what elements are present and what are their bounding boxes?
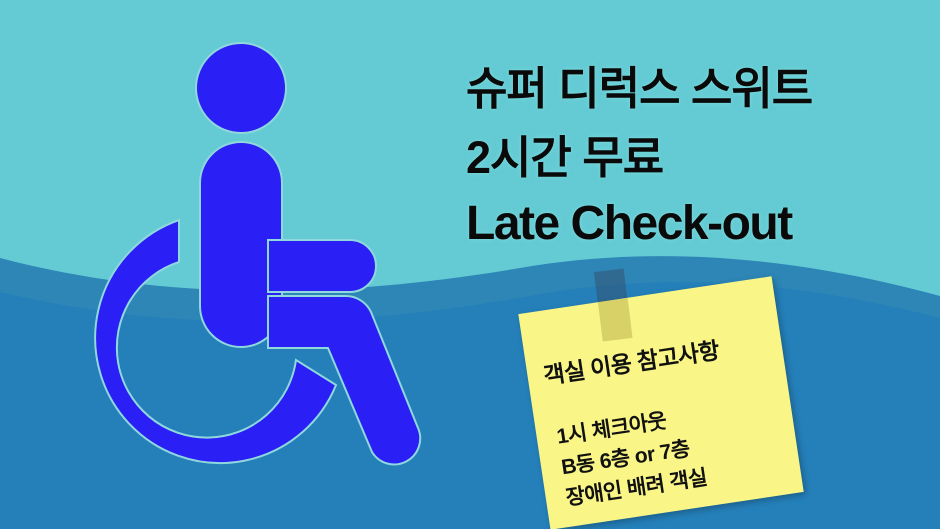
headline-block: 슈퍼 디럭스 스위트 2시간 무료 Late Check-out <box>466 54 918 256</box>
tape-icon-lower <box>598 298 633 341</box>
sticky-note-title: 객실 이용 참고사항 <box>541 331 721 391</box>
headline-line-1: 슈퍼 디럭스 스위트 <box>466 54 918 124</box>
sticky-note: 객실 이용 참고사항 1시 체크아웃 B동 6층 or 7층 장애인 배려 객실 <box>518 276 803 529</box>
headline-line-2: 2시간 무료 <box>466 124 918 192</box>
wheelchair-arm-shape <box>268 240 376 292</box>
sticky-note-paper: 객실 이용 참고사항 1시 체크아웃 B동 6층 or 7층 장애인 배려 객실 <box>518 276 803 529</box>
promo-graphic-canvas: 슈퍼 디럭스 스위트 2시간 무료 Late Check-out 객실 이용 참… <box>0 0 940 529</box>
wheelchair-icon-glyph <box>78 30 428 480</box>
wheelchair-head-shape <box>196 43 286 133</box>
sticky-note-body: 1시 체크아웃 B동 6층 or 7층 장애인 배려 객실 <box>555 401 710 514</box>
headline-line-3: Late Check-out <box>466 192 918 256</box>
wheelchair-icon <box>78 30 428 480</box>
